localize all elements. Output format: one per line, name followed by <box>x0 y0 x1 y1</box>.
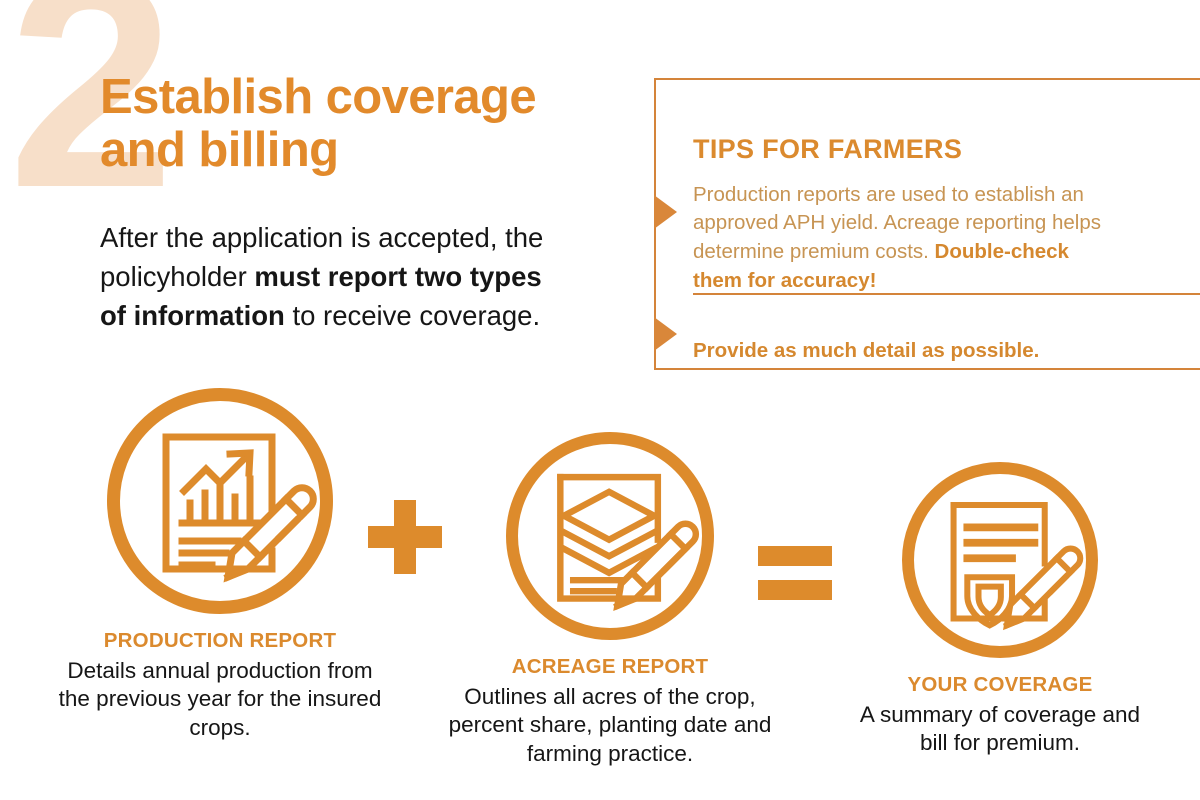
tips-for-farmers-box: TIPS FOR FARMERS Production reports are … <box>654 78 1200 370</box>
page-title-line-2: and billing <box>100 124 660 177</box>
acreage-report-caption: ACREAGE REPORT Outlines all acres of the… <box>440 654 780 769</box>
arrow-marker-icon-2 <box>654 317 677 351</box>
document-shield-pen-icon <box>914 474 1086 646</box>
intro-paragraph: After the application is accepted, the p… <box>100 218 570 335</box>
plus-vertical-bar <box>394 500 416 574</box>
document-bar-chart-pen-icon <box>120 401 320 601</box>
page-title-line-1: Establish coverage <box>100 71 660 124</box>
production-report-caption: PRODUCTION REPORT Details annual product… <box>55 628 385 743</box>
acreage-report-description: Outlines all acres of the crop, percent … <box>440 683 780 769</box>
document-layers-pen-icon <box>518 444 702 628</box>
flow-item-production-report: PRODUCTION REPORT Details annual product… <box>55 388 385 743</box>
your-coverage-caption: YOUR COVERAGE A summary of coverage and … <box>845 672 1155 758</box>
production-report-title: PRODUCTION REPORT <box>55 628 385 655</box>
tips-footnote: Provide as much detail as possible. <box>693 337 1163 366</box>
acreage-report-circle <box>506 432 714 640</box>
production-report-description: Details annual production from the previ… <box>55 657 385 743</box>
acreage-report-title: ACREAGE REPORT <box>440 654 780 681</box>
infographic-canvas: 2 Establish coverage and billing After t… <box>0 0 1200 800</box>
your-coverage-title: YOUR COVERAGE <box>845 672 1155 699</box>
flow-item-acreage-report: ACREAGE REPORT Outlines all acres of the… <box>440 432 780 769</box>
operator-equals-icon <box>758 546 832 600</box>
your-coverage-description: A summary of coverage and bill for premi… <box>845 701 1155 759</box>
operator-plus-icon <box>368 500 442 574</box>
tips-divider <box>693 293 1200 295</box>
production-report-circle <box>107 388 333 614</box>
intro-text-part-2: to receive coverage. <box>285 300 540 331</box>
flow-item-your-coverage: YOUR COVERAGE A summary of coverage and … <box>845 462 1155 758</box>
arrow-marker-icon-1 <box>654 195 677 229</box>
equals-bottom-bar <box>758 580 832 600</box>
tips-title: TIPS FOR FARMERS <box>693 134 962 165</box>
equals-top-bar <box>758 546 832 566</box>
your-coverage-circle <box>902 462 1098 658</box>
tips-body: Production reports are used to establish… <box>693 181 1113 297</box>
page-title: Establish coverage and billing <box>100 71 660 177</box>
